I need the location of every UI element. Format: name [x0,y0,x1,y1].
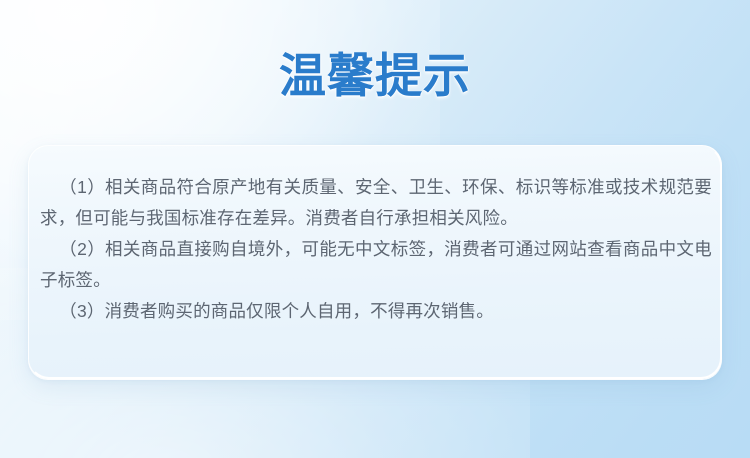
notice-page: 温馨提示 （1）相关商品符合原产地有关质量、安全、卫生、环保、标识等标准或技术规… [0,0,750,458]
notice-list: （1）相关商品符合原产地有关质量、安全、卫生、环保、标识等标准或技术规范要求，但… [40,172,712,327]
notice-item-2: （2）相关商品直接购自境外，可能无中文标签，消费者可通过网站查看商品中文电子标签… [40,234,712,296]
notice-card: （1）相关商品符合原产地有关质量、安全、卫生、环保、标识等标准或技术规范要求，但… [28,145,722,379]
page-title: 温馨提示 [0,47,750,105]
notice-item-3: （3）消费者购买的商品仅限个人自用，不得再次销售。 [40,296,712,327]
notice-item-1: （1）相关商品符合原产地有关质量、安全、卫生、环保、标识等标准或技术规范要求，但… [40,172,712,234]
